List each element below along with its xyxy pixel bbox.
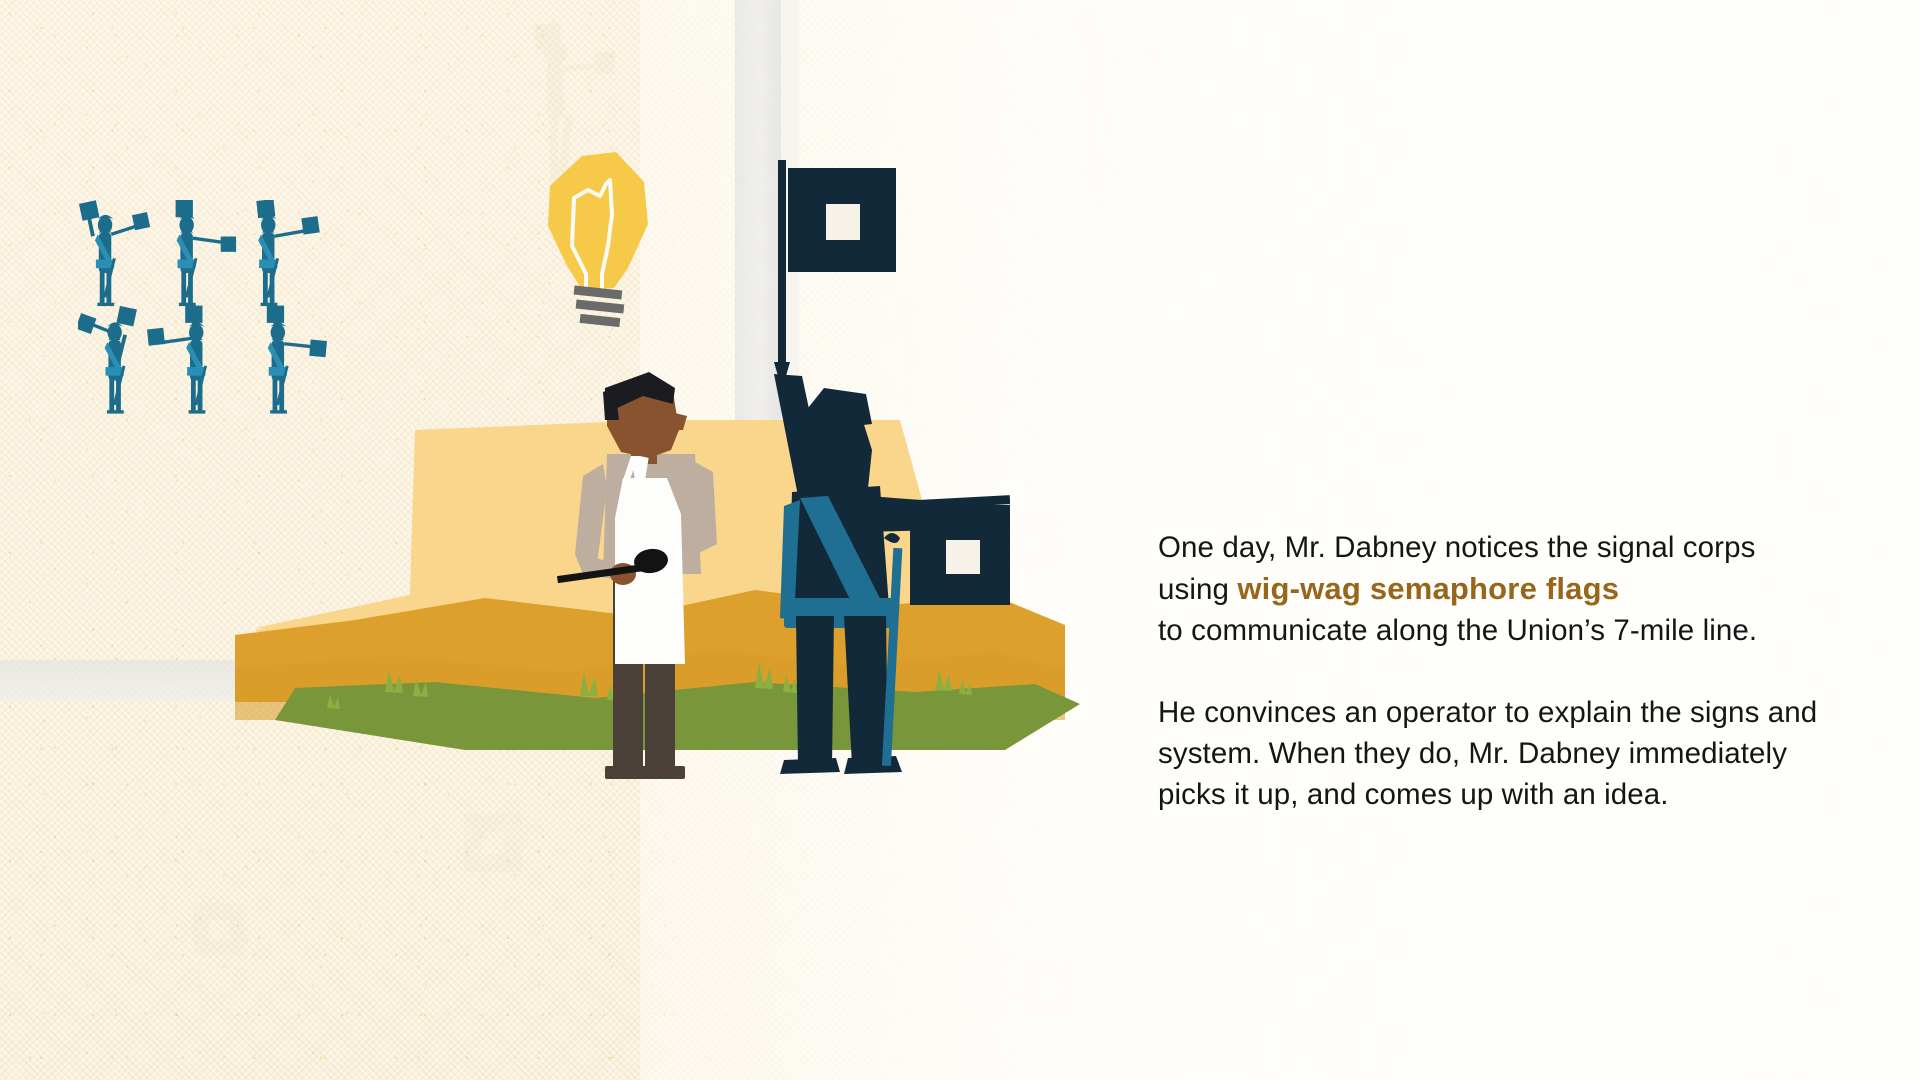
signal-figure bbox=[78, 306, 137, 414]
signal-figure bbox=[147, 306, 207, 414]
character-signal-corps-soldier bbox=[740, 150, 1010, 790]
slide-canvas: One day, Mr. Dabney notices the signal c… bbox=[0, 0, 1920, 1080]
signal-figure bbox=[176, 200, 236, 306]
wig-wag-signal-chart bbox=[78, 200, 398, 440]
narration-line-1: One day, Mr. Dabney notices the signal c… bbox=[1158, 531, 1755, 564]
extended-flag bbox=[902, 495, 1010, 605]
ghost-flag-watermark-icon bbox=[1020, 960, 1080, 1020]
narration-paragraph-2: He convinces an operator to explain the … bbox=[1158, 692, 1858, 815]
narration-paragraph-1: One day, Mr. Dabney notices the signal c… bbox=[1158, 527, 1858, 651]
bulb-glass bbox=[548, 152, 648, 290]
raised-flag bbox=[788, 168, 896, 272]
highlight-wig-wag-semaphore-flags: wig-wag semaphore flags bbox=[1237, 571, 1619, 606]
ghost-flag-watermark-icon bbox=[1415, 315, 1475, 375]
signal-figure bbox=[267, 306, 327, 414]
narration-text-panel: One day, Mr. Dabney notices the signal c… bbox=[1158, 527, 1858, 815]
raised-flag-pole bbox=[778, 160, 786, 382]
ghost-flag-watermark-icon bbox=[460, 810, 530, 880]
light-bulb-icon bbox=[524, 148, 674, 338]
signal-figure bbox=[256, 200, 319, 306]
ghost-flag-watermark-icon bbox=[190, 900, 252, 962]
bulb-base bbox=[574, 286, 625, 328]
signal-figure bbox=[79, 200, 150, 306]
cook-head bbox=[603, 372, 687, 458]
narration-line-3: to communicate along the Union’s 7-mile … bbox=[1158, 614, 1757, 647]
ghost-paper-sheets-icon bbox=[1080, 120, 1300, 270]
narration-line-2-lead: using bbox=[1158, 573, 1237, 606]
pole-finial bbox=[774, 362, 790, 376]
